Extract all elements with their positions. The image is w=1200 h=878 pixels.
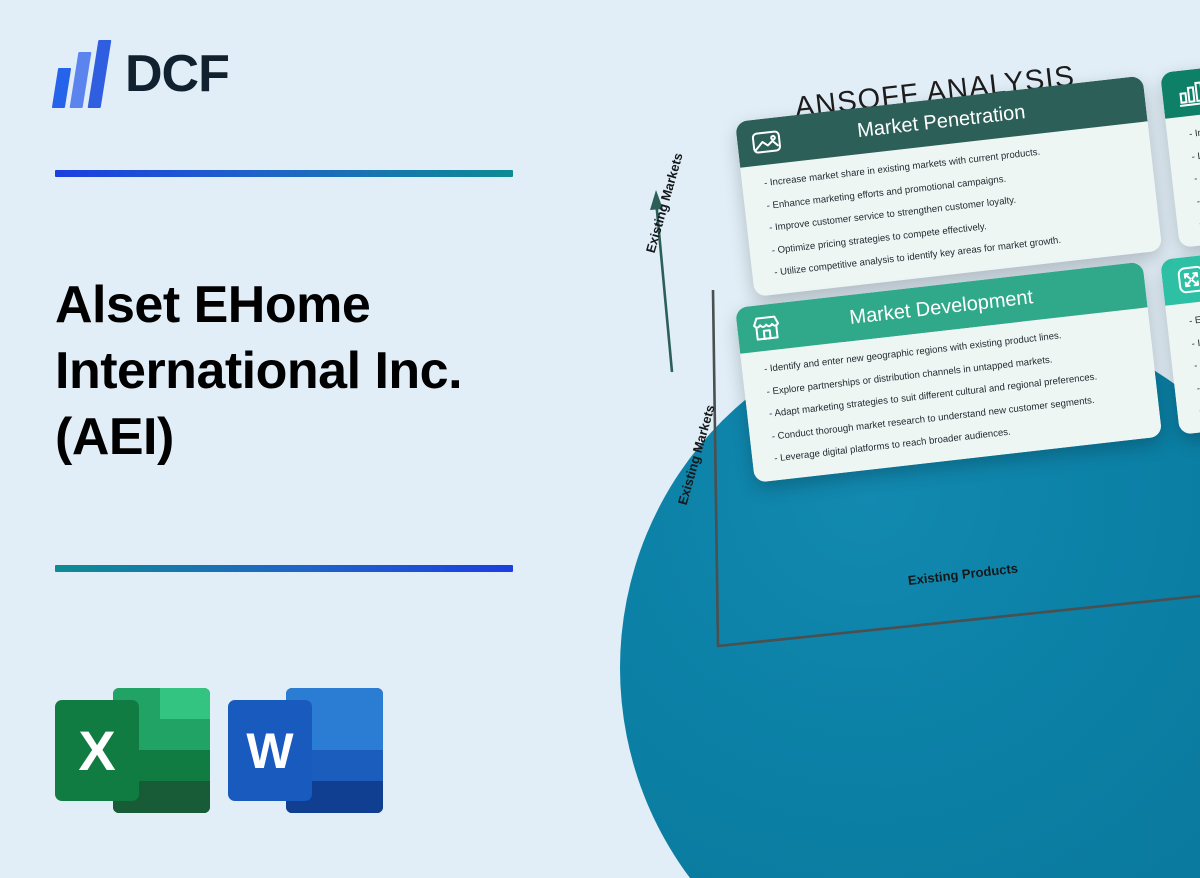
bar-chart-icon	[1173, 74, 1200, 112]
card-header: Product Development	[1160, 36, 1200, 119]
card-bullet: - Develop n	[1194, 329, 1200, 372]
word-icon[interactable]: W	[228, 688, 383, 813]
excel-icon-letter: X	[55, 700, 139, 801]
file-format-icons: X W	[55, 688, 383, 813]
brand-logo-text: DCF	[125, 48, 229, 100]
brand-logo[interactable]: DCF	[55, 40, 229, 108]
bar-chart-logo-icon	[55, 40, 111, 108]
divider-bottom	[55, 565, 513, 572]
card-bullet: - Enhance product fe	[1194, 142, 1200, 185]
page-title: Alset EHome International Inc. (AEI)	[55, 272, 565, 470]
excel-icon[interactable]: X	[55, 688, 210, 813]
card-bullet: - Launch new products	[1191, 120, 1200, 163]
storefront-icon	[748, 309, 786, 347]
card-product-development[interactable]: Product Development - Invest in research…	[1160, 36, 1200, 248]
poster-page: DCF Alset EHome International Inc. (AEI)…	[0, 0, 1200, 878]
card-bullet: - Assess ris	[1196, 351, 1200, 394]
expand-arrows-icon	[1173, 261, 1200, 299]
image-frame-icon	[748, 123, 786, 161]
ansoff-matrix-artwork: ANSOFF ANALYSIS Existing Markets Existin…	[560, 0, 1200, 878]
card-bullet: - Invest in ac	[1191, 307, 1200, 350]
left-panel: DCF Alset EHome International Inc. (AEI)…	[0, 0, 600, 878]
divider-top	[55, 170, 513, 177]
card-bullet: - Gather customer fe	[1196, 164, 1200, 207]
axis-label-y-top: Existing Markets	[643, 151, 686, 254]
word-icon-letter: W	[228, 700, 312, 801]
